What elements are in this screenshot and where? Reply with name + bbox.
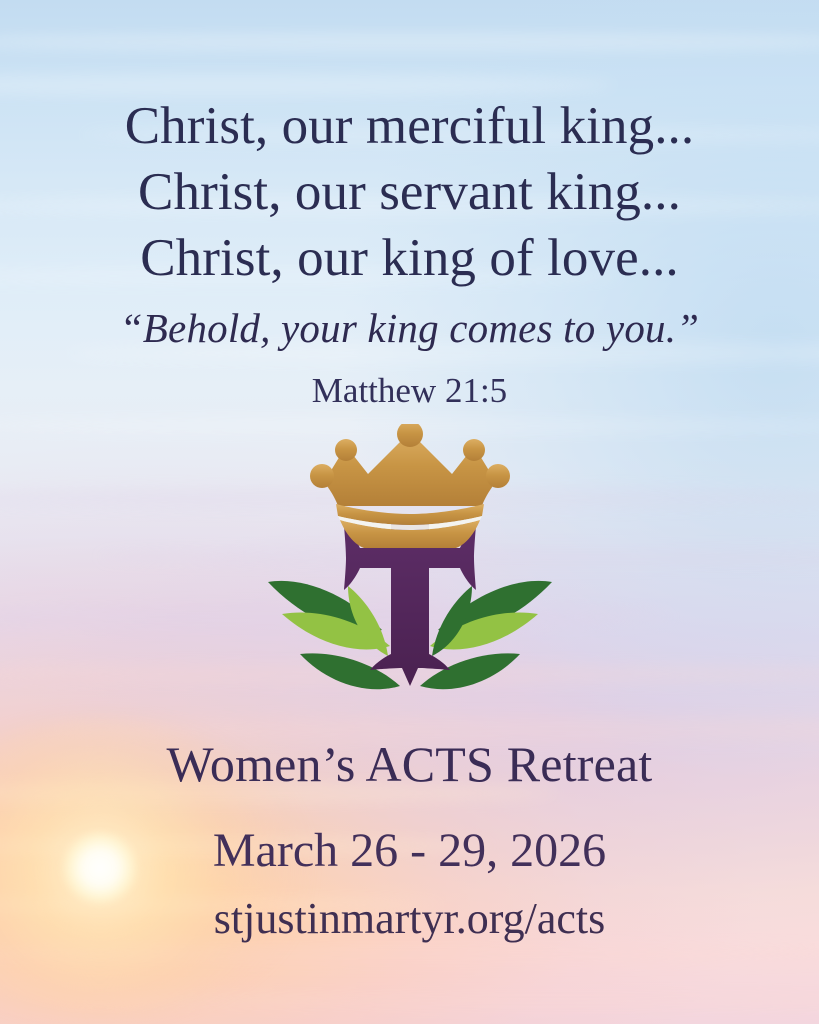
crown-icon: [310, 424, 510, 548]
scripture-reference: Matthew 21:5: [0, 371, 819, 411]
event-url[interactable]: stjustinmartyr.org/acts: [0, 893, 819, 944]
crown-ball-icon: [463, 439, 485, 461]
poster-content: Christ, our merciful king... Christ, our…: [0, 0, 819, 1024]
crown-ball-icon: [486, 464, 510, 488]
verse-line-3: Christ, our king of love...: [0, 228, 819, 288]
crown-ball-icon: [310, 464, 334, 488]
acts-logo: [260, 424, 560, 724]
verse-line-1: Christ, our merciful king...: [0, 96, 819, 156]
scripture-quote: “Behold, your king comes to you.”: [0, 304, 819, 352]
crown-ball-icon: [335, 439, 357, 461]
poster-canvas: Christ, our merciful king... Christ, our…: [0, 0, 819, 1024]
event-dates: March 26 - 29, 2026: [0, 823, 819, 878]
event-title: Women’s ACTS Retreat: [0, 735, 819, 793]
verse-line-2: Christ, our servant king...: [0, 162, 819, 222]
